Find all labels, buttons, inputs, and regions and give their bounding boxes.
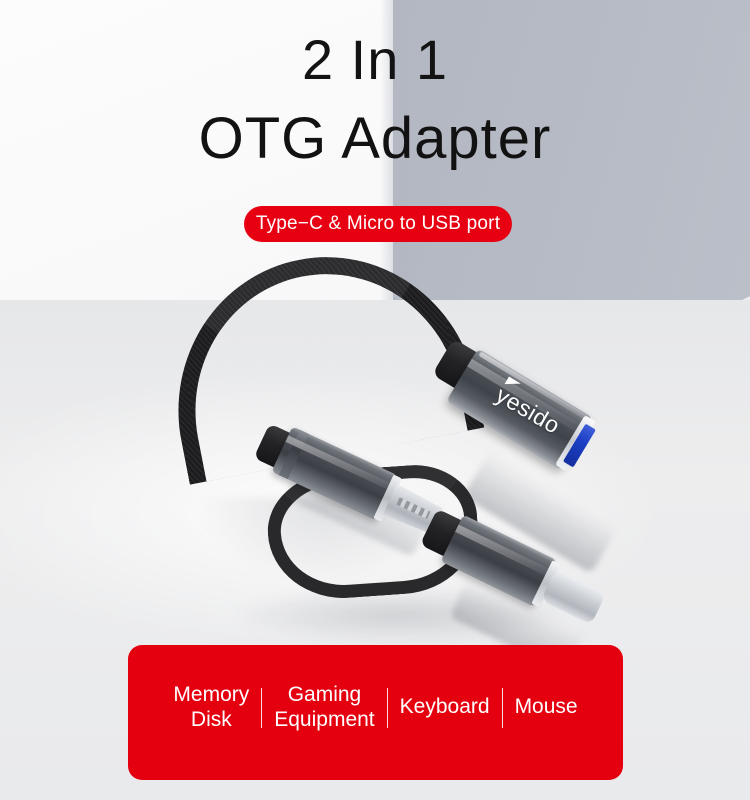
usb-a-female-host-port: yesido — [446, 348, 593, 470]
type-c-tip — [541, 570, 606, 625]
subtitle-badge-label: Type−C & Micro to USB port — [256, 213, 500, 235]
type-c-specular-highlight — [455, 525, 552, 578]
product-image-canvas: 2 In 1 OTG Adapter Type−C & Micro to USB… — [0, 0, 750, 800]
feature-item-memory-disk: Memory Disk — [161, 683, 261, 733]
feature-banner: Memory Disk Gaming Equipment Keyboard Mo… — [128, 645, 623, 780]
headline-line-2: OTG Adapter — [0, 110, 750, 168]
feature-item-keyboard: Keyboard — [388, 695, 502, 720]
micro-usb-pins — [396, 497, 430, 519]
feature-item-mouse: Mouse — [503, 695, 590, 720]
subtitle-badge: Type−C & Micro to USB port — [244, 206, 512, 242]
feature-item-gaming-equipment: Gaming Equipment — [262, 683, 386, 733]
feature-list: Memory Disk Gaming Equipment Keyboard Mo… — [128, 683, 623, 743]
usb-type-c-male-connector — [441, 515, 557, 607]
brand-logo-text: yesido — [492, 383, 564, 438]
headline-block: 2 In 1 OTG Adapter — [0, 0, 750, 168]
headline-line-1: 2 In 1 — [0, 32, 750, 88]
